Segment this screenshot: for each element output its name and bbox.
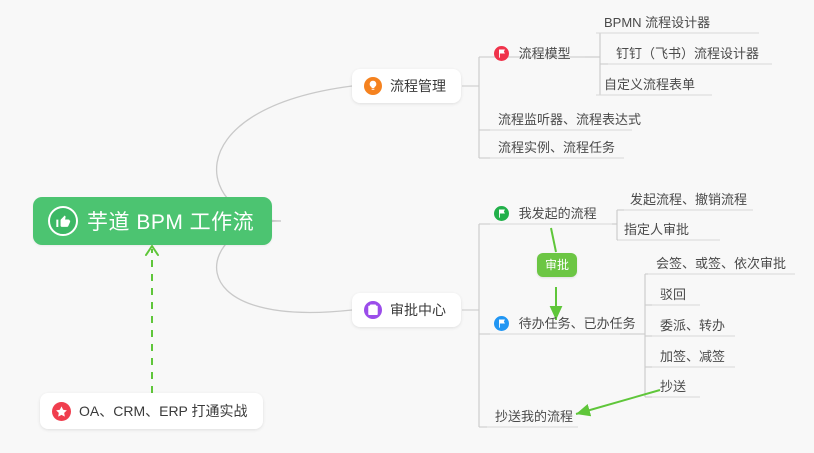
node-cc-to-me[interactable]: 抄送我的流程 (489, 405, 579, 430)
bottom-note-card[interactable]: OA、CRM、ERP 打通实战 (40, 393, 263, 429)
branch-label: 审批中心 (390, 300, 446, 320)
node-process-instance[interactable]: 流程实例、流程任务 (492, 136, 621, 161)
lightbulb-icon (364, 77, 382, 95)
approval-badge-label: 审批 (545, 258, 569, 272)
flag-icon (494, 316, 509, 331)
approval-badge[interactable]: 审批 (537, 253, 577, 277)
node-process-listener[interactable]: 流程监听器、流程表达式 (492, 108, 647, 133)
node-delegate-transfer[interactable]: 委派、转办 (654, 314, 731, 339)
node-label: 抄送我的流程 (495, 409, 573, 424)
root-label: 芋道 BPM 工作流 (87, 206, 254, 236)
node-label: 流程监听器、流程表达式 (498, 112, 641, 127)
node-countersign[interactable]: 会签、或签、依次审批 (650, 252, 792, 277)
node-label: 自定义流程表单 (604, 77, 695, 92)
node-add-remove-sign[interactable]: 加签、减签 (654, 345, 731, 370)
node-bpmn-designer[interactable]: BPMN 流程设计器 (598, 11, 716, 36)
flag-icon (494, 46, 509, 61)
node-label: 发起流程、撤销流程 (630, 192, 747, 207)
node-label: 指定人审批 (624, 222, 689, 237)
node-dingtalk-designer[interactable]: 钉钉（飞书）流程设计器 (610, 42, 765, 67)
node-custom-form[interactable]: 自定义流程表单 (598, 73, 701, 98)
node-label: 会签、或签、依次审批 (656, 256, 786, 271)
root-node[interactable]: 芋道 BPM 工作流 (33, 197, 272, 245)
node-label: 驳回 (660, 287, 686, 302)
node-label: 我发起的流程 (519, 206, 597, 221)
node-label: 抄送 (660, 379, 686, 394)
star-icon (52, 402, 71, 421)
node-label: 委派、转办 (660, 318, 725, 333)
node-cc[interactable]: 抄送 (654, 375, 692, 400)
node-label: 流程实例、流程任务 (498, 140, 615, 155)
node-label: 钉钉（飞书）流程设计器 (616, 46, 759, 61)
node-label: 流程模型 (519, 46, 571, 61)
node-label: BPMN 流程设计器 (604, 15, 710, 30)
bottom-note-label: OA、CRM、ERP 打通实战 (79, 401, 248, 421)
clipboard-icon (364, 301, 382, 319)
flag-icon (494, 206, 509, 221)
node-label: 待办任务、已办任务 (519, 316, 636, 331)
branch-label: 流程管理 (390, 76, 446, 96)
node-process-model[interactable]: 流程模型 (492, 42, 577, 67)
node-my-initiated-process[interactable]: 我发起的流程 (492, 202, 603, 227)
node-designated-approver[interactable]: 指定人审批 (618, 218, 695, 243)
node-initiate-cancel[interactable]: 发起流程、撤销流程 (624, 188, 753, 213)
branch-process-management[interactable]: 流程管理 (352, 69, 461, 103)
node-reject[interactable]: 驳回 (654, 283, 692, 308)
mindmap-canvas: 芋道 BPM 工作流 OA、CRM、ERP 打通实战 流程管理 流程模型 BPM… (0, 0, 814, 453)
node-label: 加签、减签 (660, 349, 725, 364)
node-todo-done-tasks[interactable]: 待办任务、已办任务 (492, 312, 642, 337)
branch-approval-center[interactable]: 审批中心 (352, 293, 461, 327)
thumbs-up-icon (48, 206, 78, 236)
